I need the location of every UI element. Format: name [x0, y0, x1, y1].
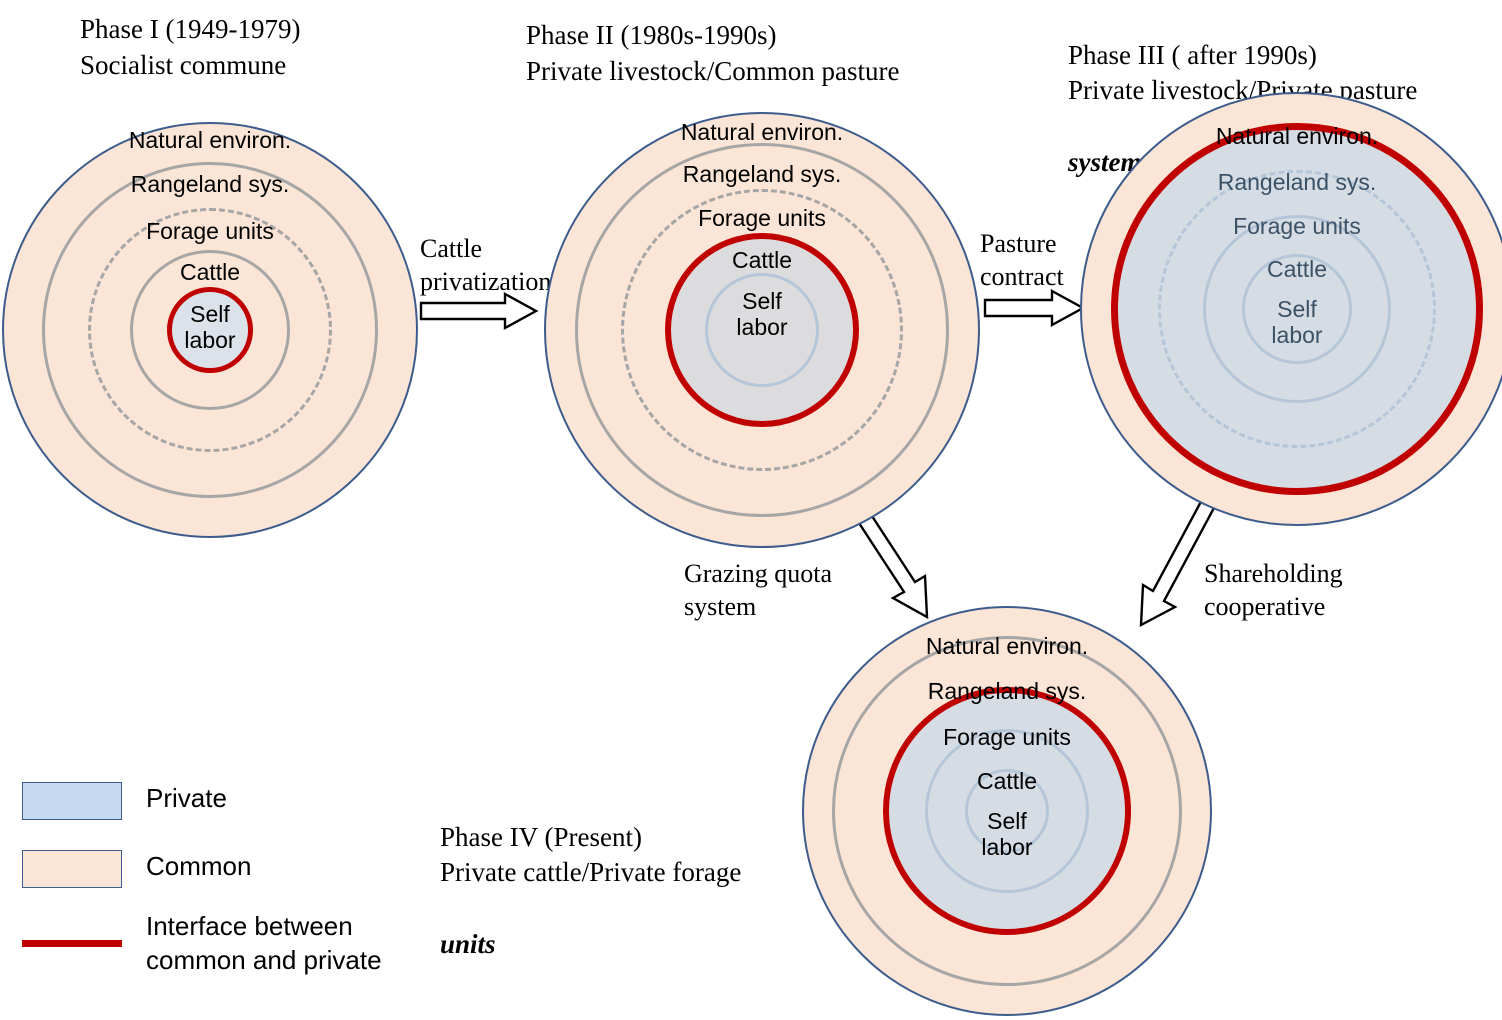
phase-2-label-natural-environ: Natural environ.: [681, 120, 843, 146]
phase-2-label-forage-units: Forage units: [698, 206, 826, 232]
phase-1-label-cattle: Cattle: [180, 260, 240, 286]
phase-1-heading: Phase I (1949-1979) Socialist commune: [80, 12, 300, 83]
legend-swatch-private: [22, 782, 122, 820]
phase-1-label-rangeland-sys: Rangeland sys.: [131, 172, 290, 198]
phase-2-label-rangeland-sys: Rangeland sys.: [683, 162, 842, 188]
phase-4-heading-main: Phase IV (Present) Private cattle/Privat…: [440, 822, 741, 888]
legend-label-common: Common: [146, 850, 251, 884]
phase-4-heading: Phase IV (Present) Private cattle/Privat…: [440, 784, 741, 962]
legend-item-common: Common: [22, 850, 251, 888]
phase-4-circles: Natural environ. Rangeland sys. Forage u…: [802, 606, 1212, 1016]
diagram-canvas: Phase I (1949-1979) Socialist commune Na…: [0, 0, 1502, 1020]
phase-4-label-self-labor: Self labor: [981, 809, 1032, 861]
phase-1-label-natural-environ: Natural environ.: [129, 128, 291, 154]
phase-4-label-forage-units: Forage units: [943, 725, 1071, 751]
legend-item-private: Private: [22, 782, 227, 820]
transition-shareholding-cooperative-label: Shareholding cooperative: [1204, 558, 1343, 623]
phase-3-label-forage-units: Forage units: [1233, 214, 1361, 240]
phase-2-label-self-labor: Self labor: [736, 289, 787, 341]
legend: Private Common Interface between common …: [22, 782, 422, 982]
phase-3-label-self-labor: Self labor: [1271, 297, 1322, 349]
legend-item-interface: Interface between common and private: [22, 910, 382, 978]
phase-1-label-forage-units: Forage units: [146, 219, 274, 245]
phase-4-label-natural-environ: Natural environ.: [926, 634, 1088, 660]
phase-3-label-cattle: Cattle: [1267, 257, 1327, 283]
legend-swatch-interface: [22, 940, 122, 947]
legend-label-interface: Interface between common and private: [146, 910, 382, 978]
transition-cattle-privatization-label: Cattle privatization: [420, 233, 551, 298]
transition-pasture-contract-label: Pasture contract: [980, 228, 1064, 293]
arrow-pasture-contract: [985, 291, 1083, 325]
phase-3-label-rangeland-sys: Rangeland sys.: [1218, 170, 1377, 196]
arrow-cattle-privatization: [421, 294, 536, 328]
phase-3-circles: Natural environ. Rangeland sys. Forage u…: [1080, 92, 1502, 526]
phase-2-heading: Phase II (1980s-1990s) Private livestock…: [526, 18, 899, 89]
phase-2-circles: Natural environ. Rangeland sys. Forage u…: [544, 112, 980, 548]
phase-2-label-cattle: Cattle: [732, 248, 792, 274]
legend-label-private: Private: [146, 782, 227, 816]
phase-4-label-rangeland-sys: Rangeland sys.: [928, 679, 1087, 705]
legend-swatch-common: [22, 850, 122, 888]
phase-3-label-natural-environ: Natural environ.: [1216, 124, 1378, 150]
phase-1-label-self-labor: Self labor: [184, 302, 235, 354]
phase-4-heading-emphasis: units: [440, 929, 496, 959]
phase-1-circles: Natural environ. Rangeland sys. Forage u…: [2, 122, 418, 538]
phase-4-label-cattle: Cattle: [977, 769, 1037, 795]
